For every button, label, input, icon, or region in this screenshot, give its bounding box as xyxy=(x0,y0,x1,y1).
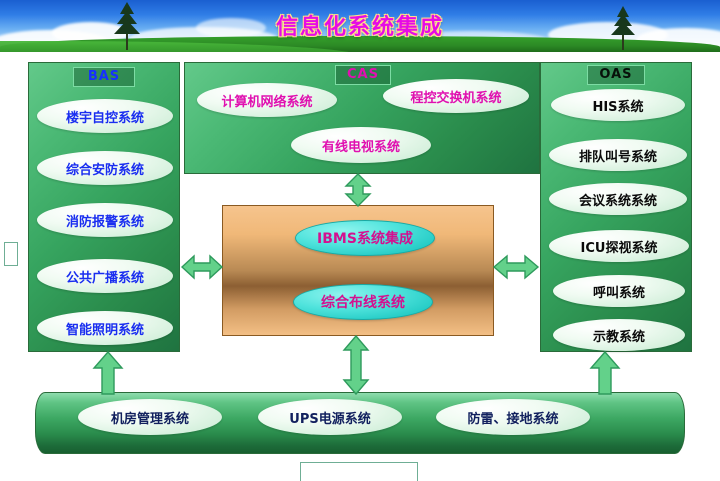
group-tag-cas: CAS xyxy=(335,65,391,85)
header-banner: 信息化系统集成 xyxy=(0,0,720,52)
node-oas-2[interactable]: 排队叫号系统 xyxy=(549,139,687,171)
group-panel-cas: CAS 计算机网络系统 程控交换机系统 有线电视系统 xyxy=(184,62,540,174)
infrastructure-panel: 机房管理系统 UPS电源系统 防雷、接地系统 xyxy=(35,392,685,454)
node-oas-6[interactable]: 示教系统 xyxy=(553,319,685,351)
node-bas-3[interactable]: 消防报警系统 xyxy=(37,203,173,237)
connector-core-to-oas xyxy=(494,253,538,281)
node-infra-1[interactable]: 机房管理系统 xyxy=(78,399,222,435)
connector-infrastructure-to-oas xyxy=(589,352,621,394)
node-oas-5[interactable]: 呼叫系统 xyxy=(553,275,685,307)
page-title: 信息化系统集成 xyxy=(0,9,720,41)
group-panel-oas: OAS HIS系统 排队叫号系统 会议系统系统 ICU探视系统 呼叫系统 示教系… xyxy=(540,62,692,352)
node-infra-3[interactable]: 防雷、接地系统 xyxy=(436,399,590,435)
connector-core-to-infrastructure xyxy=(338,336,374,394)
edge-stub-left xyxy=(4,242,18,266)
node-core-cabling[interactable]: 综合布线系统 xyxy=(293,284,433,320)
node-oas-3[interactable]: 会议系统系统 xyxy=(549,183,687,215)
connector-bas-to-core xyxy=(182,253,222,281)
edge-stub-bottom xyxy=(300,462,418,481)
node-core-ibms[interactable]: IBMS系统集成 xyxy=(295,220,435,256)
group-tag-bas: BAS xyxy=(73,67,135,87)
node-bas-2[interactable]: 综合安防系统 xyxy=(37,151,173,185)
node-bas-1[interactable]: 楼宇自控系统 xyxy=(37,99,173,133)
slide-canvas: 信息化系统集成 BAS 楼宇自控系统 综合安防系统 消防报警系统 公共广播系统 … xyxy=(0,0,720,481)
node-infra-2[interactable]: UPS电源系统 xyxy=(258,399,402,435)
connector-cas-to-core xyxy=(340,174,376,206)
core-panel: IBMS系统集成 综合布线系统 xyxy=(222,205,494,336)
node-cas-1[interactable]: 计算机网络系统 xyxy=(197,83,337,117)
group-tag-oas: OAS xyxy=(587,65,645,85)
node-cas-2[interactable]: 程控交换机系统 xyxy=(383,79,529,113)
node-bas-4[interactable]: 公共广播系统 xyxy=(37,259,173,293)
group-panel-bas: BAS 楼宇自控系统 综合安防系统 消防报警系统 公共广播系统 智能照明系统 xyxy=(28,62,180,352)
node-oas-4[interactable]: ICU探视系统 xyxy=(549,230,689,262)
connector-infrastructure-to-bas xyxy=(92,352,124,394)
node-oas-1[interactable]: HIS系统 xyxy=(551,89,685,121)
node-bas-5[interactable]: 智能照明系统 xyxy=(37,311,173,345)
node-cas-3[interactable]: 有线电视系统 xyxy=(291,127,431,163)
